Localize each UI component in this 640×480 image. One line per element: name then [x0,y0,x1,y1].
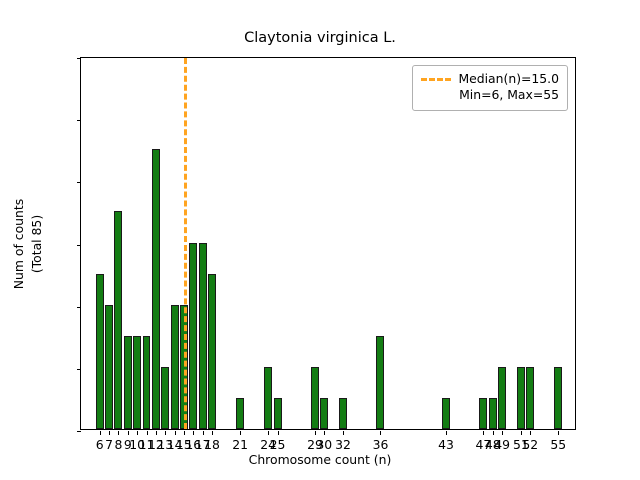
x-tick [147,431,148,435]
bar [339,398,347,429]
x-tick [530,431,531,435]
y-tick [77,369,81,370]
x-tick [212,431,213,435]
bar [171,305,179,429]
plot-area: 0246810126789101112131415161718212425293… [80,57,576,430]
bar [311,367,319,429]
x-tick [118,431,119,435]
bar [161,367,169,429]
x-tick [175,431,176,435]
x-tick [483,431,484,435]
chart-title: Claytonia virginica L. [0,30,640,46]
bar [143,336,151,429]
x-tick-label: 18 [204,437,220,452]
x-tick [128,431,129,435]
x-tick-label: 21 [232,437,248,452]
x-tick-label: 43 [438,437,454,452]
x-tick [184,431,185,435]
x-tick-label: 8 [114,437,122,452]
bar [442,398,450,429]
y-tick [77,431,81,432]
x-tick [156,431,157,435]
x-tick [240,431,241,435]
x-tick [268,431,269,435]
median-line [184,58,187,429]
bar [376,336,384,429]
bar [554,367,562,429]
y-tick [77,58,81,59]
y-tick [77,120,81,121]
bar [133,336,141,429]
y-tick [77,182,81,183]
bar [124,336,132,429]
x-tick-label: 32 [335,437,351,452]
x-tick [380,431,381,435]
x-tick-label: 36 [373,437,389,452]
legend-item-median: Median(n)=15.0 [421,71,559,87]
bars-container [81,58,575,429]
bar [96,274,104,429]
x-tick-label: 30 [316,437,332,452]
x-tick-label: 7 [105,437,113,452]
bar [236,398,244,429]
x-tick [502,431,503,435]
bar [320,398,328,429]
legend-median-label: Median(n)=15.0 [458,71,559,87]
x-tick [446,431,447,435]
bar [526,367,534,429]
y-tick [77,245,81,246]
dashed-line-icon [421,78,451,81]
x-tick-label: 25 [270,437,286,452]
bar [199,243,207,430]
bar [189,243,197,430]
x-tick [493,431,494,435]
x-axis-label: Chromosome count (n) [0,452,640,467]
x-tick [100,431,101,435]
bar [489,398,497,429]
figure: Claytonia virginica L. Num of counts (To… [0,0,640,480]
bar [114,211,122,429]
x-tick-label: 52 [522,437,538,452]
x-tick [278,431,279,435]
x-tick [324,431,325,435]
y-tick [77,307,81,308]
bar [498,367,506,429]
bar [208,274,216,429]
x-tick-label: 49 [494,437,510,452]
x-tick [109,431,110,435]
x-tick [521,431,522,435]
x-tick-label: 6 [96,437,104,452]
bar [152,149,160,429]
x-tick [558,431,559,435]
x-tick [315,431,316,435]
y-axis-label: Num of counts (Total 85) [18,57,38,430]
x-tick [193,431,194,435]
x-tick [137,431,138,435]
legend-range-label: Min=6, Max=55 [421,87,559,103]
x-tick [165,431,166,435]
y-axis-label-text: Num of counts (Total 85) [10,198,46,288]
x-tick [343,431,344,435]
x-tick-label: 55 [550,437,566,452]
bar [517,367,525,429]
bar [274,398,282,429]
x-tick [203,431,204,435]
bar [264,367,272,429]
bar [479,398,487,429]
bar [105,305,113,429]
legend: Median(n)=15.0 Min=6, Max=55 [412,65,568,111]
